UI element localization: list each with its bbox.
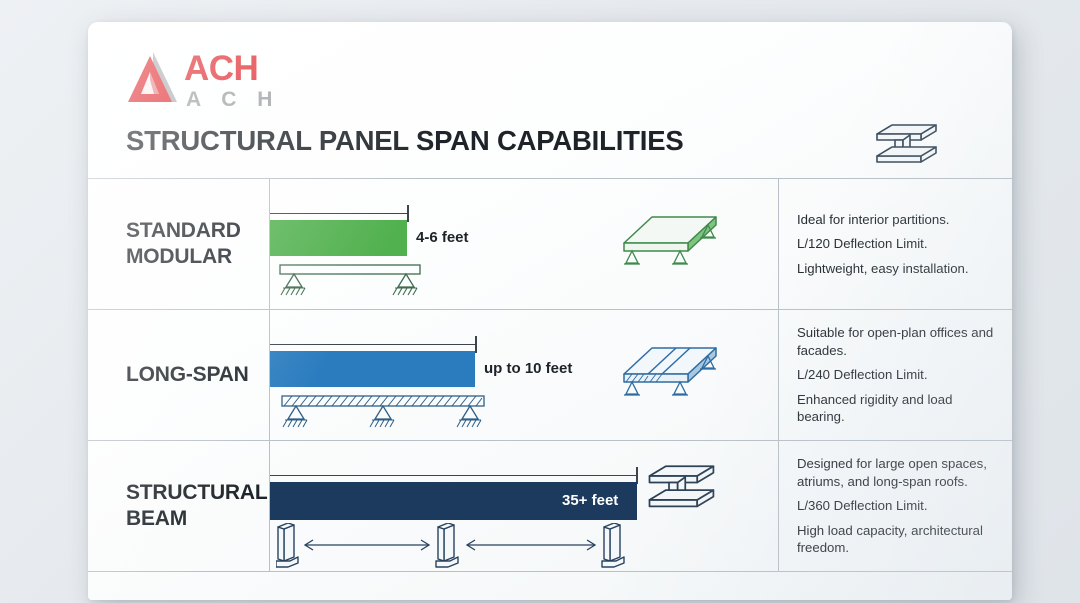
dimension-rule (270, 344, 476, 345)
page-title: STRUCTURAL PANEL SPAN CAPABILITIES (126, 125, 684, 157)
span-bar-label: 35+ feet (562, 492, 618, 509)
note-item: High load capacity, architectural freedo… (797, 522, 1000, 557)
span-capability-table: STANDARD MODULAR 4-6 feet (88, 178, 1012, 572)
card-header: ACH A C H STRUCTURAL PANEL SPAN CAPABILI… (88, 22, 1012, 178)
simple-beam-two-supports-icon (274, 263, 426, 299)
brand-name-secondary: A C H (186, 89, 280, 110)
note-item: L/240 Deflection Limit. (797, 366, 1000, 383)
row-graphic-structural-beam: 35+ feet (270, 441, 779, 571)
row-label-text: STANDARD MODULAR (126, 218, 241, 270)
row-label-long-span: LONG-SPAN (88, 310, 270, 440)
dimension-rule (270, 475, 637, 476)
i-beam-icon (874, 122, 940, 170)
row-label-text: LONG-SPAN (126, 362, 249, 388)
brand-wordmark: ACH A C H (184, 51, 280, 110)
span-bar-label: 4-6 feet (416, 229, 469, 246)
dimension-tick-right (407, 205, 409, 222)
note-item: L/120 Deflection Limit. (797, 235, 1000, 252)
span-bar-label: up to 10 feet (484, 360, 572, 377)
row-notes-standard-modular: Ideal for interior partitions. L/120 Def… (779, 179, 1012, 309)
row-label-text: STRUCTURAL BEAM (126, 480, 267, 532)
three-columns-with-span-arrows-icon (276, 523, 638, 571)
dimension-rule (270, 213, 408, 214)
row-label-standard-modular: STANDARD MODULAR (88, 179, 270, 309)
span-bar-standard-modular (270, 220, 407, 256)
ach-triangle-logo-icon (126, 50, 178, 106)
note-item: Suitable for open-plan offices and facad… (797, 324, 1000, 359)
brand-name-primary: ACH (184, 51, 280, 86)
row-label-line1: STANDARD (126, 219, 241, 242)
table-row: STRUCTURAL BEAM 35+ feet (88, 441, 1012, 572)
table-row: STANDARD MODULAR 4-6 feet (88, 179, 1012, 310)
note-item: Ideal for interior partitions. (797, 211, 1000, 228)
row-label-line2: MODULAR (126, 245, 232, 268)
row-graphic-long-span: up to 10 feet (270, 310, 779, 440)
row-label-line1: STRUCTURAL (126, 481, 267, 504)
table-row: LONG-SPAN up to 10 feet (88, 310, 1012, 441)
row-notes-structural-beam: Designed for large open spaces, atriums,… (779, 441, 1012, 571)
hatched-beam-three-supports-icon (276, 394, 490, 430)
note-item: Designed for large open spaces, atriums,… (797, 455, 1000, 490)
blue-isometric-ribbed-panel-icon (618, 336, 722, 400)
dimension-tick-right (475, 336, 477, 353)
row-graphic-standard-modular: 4-6 feet (270, 179, 779, 309)
brand-logo: ACH A C H (126, 50, 280, 110)
row-notes-long-span: Suitable for open-plan offices and facad… (779, 310, 1012, 440)
note-item: Lightweight, easy installation. (797, 260, 1000, 277)
note-item: Enhanced rigidity and load bearing. (797, 391, 1000, 426)
row-label-line2: BEAM (126, 507, 187, 530)
span-bar-long-span (270, 351, 475, 387)
row-label-structural-beam: STRUCTURAL BEAM (88, 441, 270, 571)
note-item: L/360 Deflection Limit. (797, 497, 1000, 514)
infographic-card: ACH A C H STRUCTURAL PANEL SPAN CAPABILI… (88, 22, 1012, 600)
navy-i-beam-icon (646, 463, 718, 515)
row-label-line1: LONG-SPAN (126, 363, 249, 386)
green-isometric-panel-icon (618, 205, 722, 269)
